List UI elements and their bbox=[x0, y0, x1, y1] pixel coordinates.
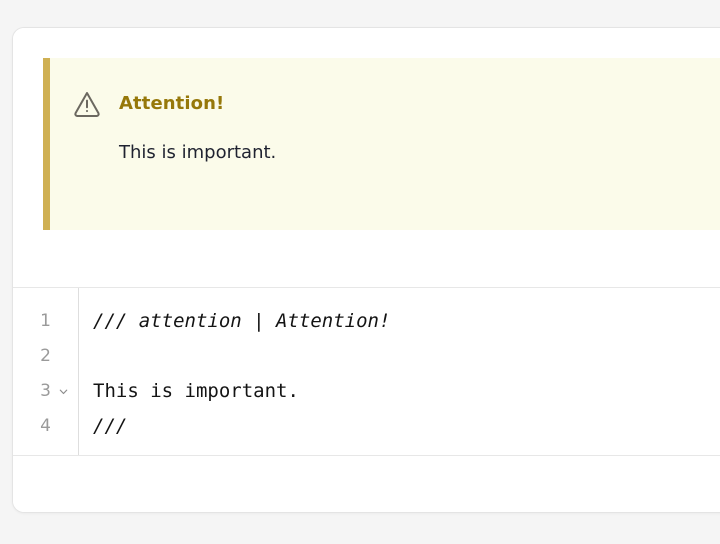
gutter-row: 2 bbox=[13, 339, 78, 374]
line-number: 4 bbox=[40, 418, 51, 435]
gutter-row: 3 bbox=[13, 374, 78, 409]
preview-code-card: Attention! This is important. 1 2 3 bbox=[12, 27, 720, 513]
warning-triangle-icon bbox=[72, 89, 102, 119]
code-editor[interactable]: 1 2 3 4 /// attention | At bbox=[13, 288, 720, 456]
code-line[interactable]: This is important. bbox=[93, 374, 720, 409]
line-number: 2 bbox=[40, 348, 51, 365]
markdown-preview-pane: Attention! This is important. bbox=[13, 28, 720, 288]
gutter-row: 4 bbox=[13, 409, 78, 444]
line-number-gutter: 1 2 3 4 bbox=[13, 288, 79, 455]
admonition-title: Attention! bbox=[119, 95, 224, 113]
code-line[interactable]: /// attention | Attention! bbox=[93, 304, 720, 339]
code-line[interactable]: /// bbox=[93, 409, 720, 444]
attention-admonition: Attention! This is important. bbox=[43, 58, 720, 230]
code-line[interactable] bbox=[93, 339, 720, 374]
card-footer bbox=[13, 456, 720, 512]
code-text-area[interactable]: /// attention | Attention! This is impor… bbox=[79, 288, 720, 455]
admonition-header: Attention! bbox=[50, 58, 720, 119]
admonition-body-text: This is important. bbox=[50, 119, 720, 165]
line-number: 3 bbox=[40, 383, 51, 400]
chevron-down-icon[interactable] bbox=[56, 386, 70, 397]
gutter-row: 1 bbox=[13, 304, 78, 339]
line-number: 1 bbox=[40, 313, 51, 330]
